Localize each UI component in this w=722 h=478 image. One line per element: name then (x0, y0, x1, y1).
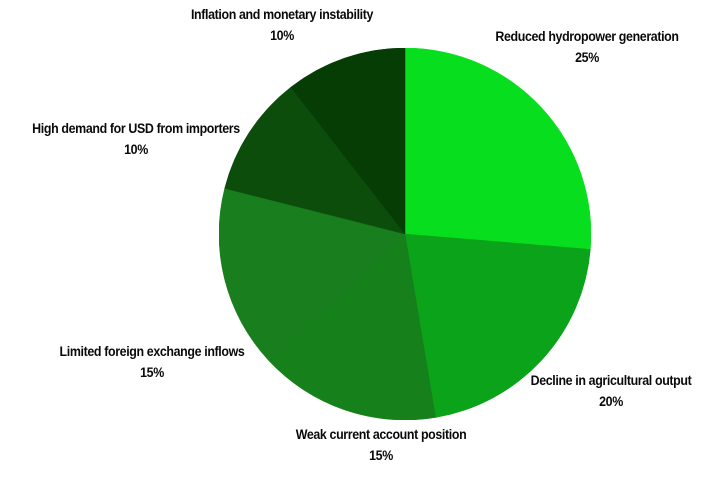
pie-label-name: Decline in agricultural output (509, 371, 713, 392)
pie-label-percent: 25% (463, 48, 711, 69)
pie-label-percent: 10% (151, 26, 412, 47)
pie-label-name: Inflation and monetary instability (151, 5, 412, 26)
pie-label-limited-foreign-exchange-inflows: Limited foreign exchange inflows 15% (29, 342, 276, 384)
pie-label-percent: 15% (260, 446, 501, 467)
pie-label-percent: 15% (29, 363, 276, 384)
pie-label-percent: 10% (11, 140, 261, 161)
pie-slice (405, 48, 591, 249)
pie-label-inflation-and-monetary-instability: Inflation and monetary instability 10% (151, 5, 412, 47)
pie-label-name: Reduced hydropower generation (463, 27, 711, 48)
pie-label-name: High demand for USD from importers (11, 119, 261, 140)
pie-chart-figure: Reduced hydropower generation 25% Declin… (0, 0, 722, 478)
pie-label-weak-current-account-position: Weak current account position 15% (260, 425, 501, 467)
pie-label-high-demand-for-usd-from-importers: High demand for USD from importers 10% (11, 119, 261, 161)
pie-label-decline-in-agricultural-output: Decline in agricultural output 20% (509, 371, 713, 413)
pie-label-percent: 20% (509, 392, 713, 413)
pie-label-name: Weak current account position (260, 425, 501, 446)
pie-label-name: Limited foreign exchange inflows (29, 342, 276, 363)
pie-label-reduced-hydropower-generation: Reduced hydropower generation 25% (463, 27, 711, 69)
